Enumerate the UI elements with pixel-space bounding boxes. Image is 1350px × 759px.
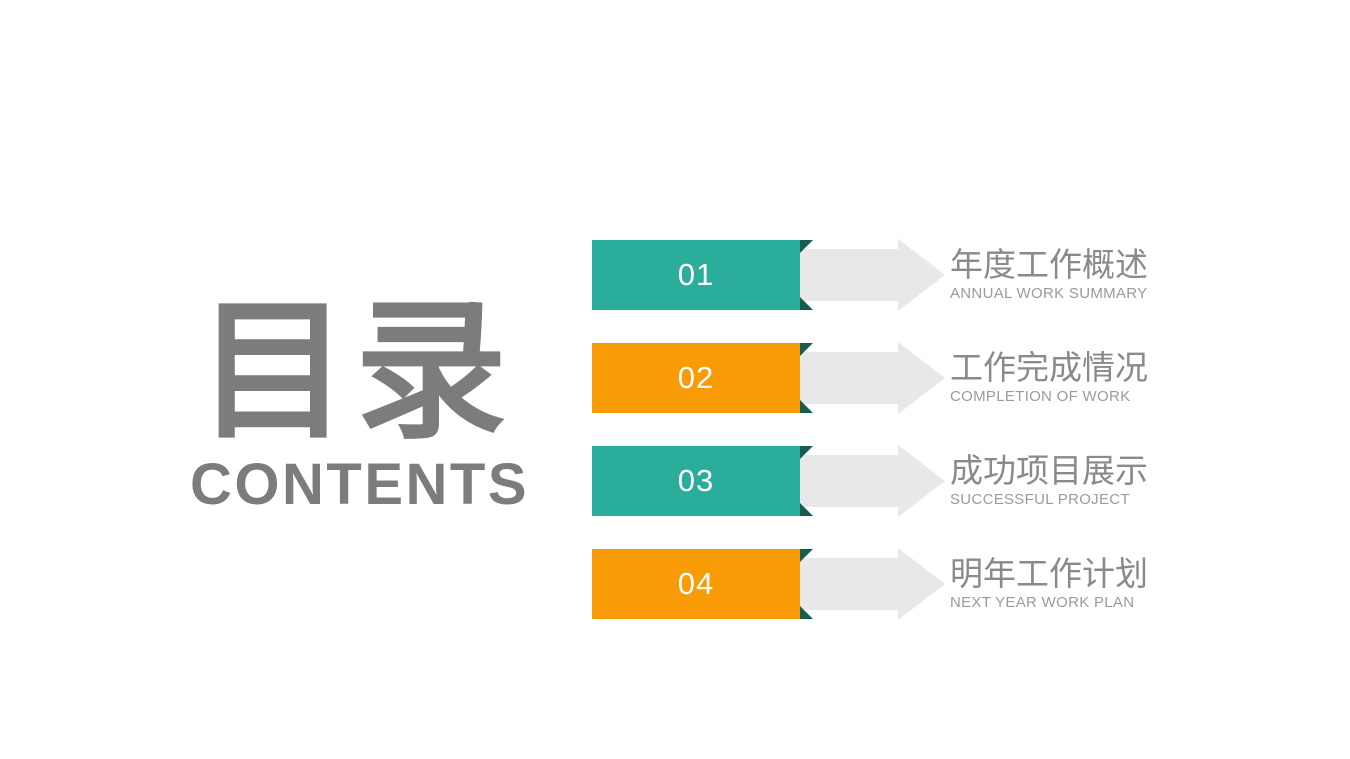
agenda-item-02[interactable]: 02 工作完成情况 COMPLETION OF WORK [592,343,1192,413]
item-title-cn: 年度工作概述 [950,247,1148,283]
arrow-polygon-2 [800,342,945,414]
number-plate-02[interactable]: 02 [592,343,800,413]
item-title-cn: 成功项目展示 [950,453,1148,489]
arrow-polygon-3 [800,445,945,517]
item-title-cn: 明年工作计划 [950,556,1148,592]
item-title-cn: 工作完成情况 [950,350,1148,386]
ribbon-fold-bottom-icon [800,297,813,310]
page-title-cn: 目录 [190,296,520,448]
agenda-item-01[interactable]: 01 年度工作概述 ANNUAL WORK SUMMARY [592,240,1192,310]
agenda-labels-03: 成功项目展示 SUCCESSFUL PROJECT [950,446,1148,516]
item-number: 03 [678,463,714,499]
arrow-shape-icon [800,548,945,620]
page-title-en: CONTENTS [190,456,520,514]
ribbon-fold-top-icon [800,240,813,253]
item-title-en: COMPLETION OF WORK [950,389,1148,406]
number-plate-01[interactable]: 01 [592,240,800,310]
number-plate-03[interactable]: 03 [592,446,800,516]
arrow-shape-icon [800,239,945,311]
ribbon-fold-top-icon [800,446,813,459]
agenda-item-04[interactable]: 04 明年工作计划 NEXT YEAR WORK PLAN [592,549,1192,619]
arrow-shape-icon [800,342,945,414]
ribbon-fold-bottom-icon [800,503,813,516]
item-title-en: ANNUAL WORK SUMMARY [950,286,1148,303]
ribbon-fold-top-icon [800,549,813,562]
agenda-list: 01 年度工作概述 ANNUAL WORK SUMMARY 02 工作完成情况 … [592,240,1192,619]
slide-title-block: 目录 CONTENTS [190,296,520,514]
agenda-item-03[interactable]: 03 成功项目展示 SUCCESSFUL PROJECT [592,446,1192,516]
item-number: 02 [678,360,714,396]
item-title-en: NEXT YEAR WORK PLAN [950,595,1148,612]
agenda-labels-04: 明年工作计划 NEXT YEAR WORK PLAN [950,549,1148,619]
arrow-shape-icon [800,445,945,517]
item-title-en: SUCCESSFUL PROJECT [950,492,1148,509]
ribbon-fold-bottom-icon [800,400,813,413]
agenda-labels-02: 工作完成情况 COMPLETION OF WORK [950,343,1148,413]
ribbon-fold-bottom-icon [800,606,813,619]
item-number: 01 [678,257,714,293]
item-number: 04 [678,566,714,602]
arrow-polygon-4 [800,548,945,620]
arrow-polygon-1 [800,239,945,311]
ribbon-fold-top-icon [800,343,813,356]
agenda-labels-01: 年度工作概述 ANNUAL WORK SUMMARY [950,240,1148,310]
number-plate-04[interactable]: 04 [592,549,800,619]
